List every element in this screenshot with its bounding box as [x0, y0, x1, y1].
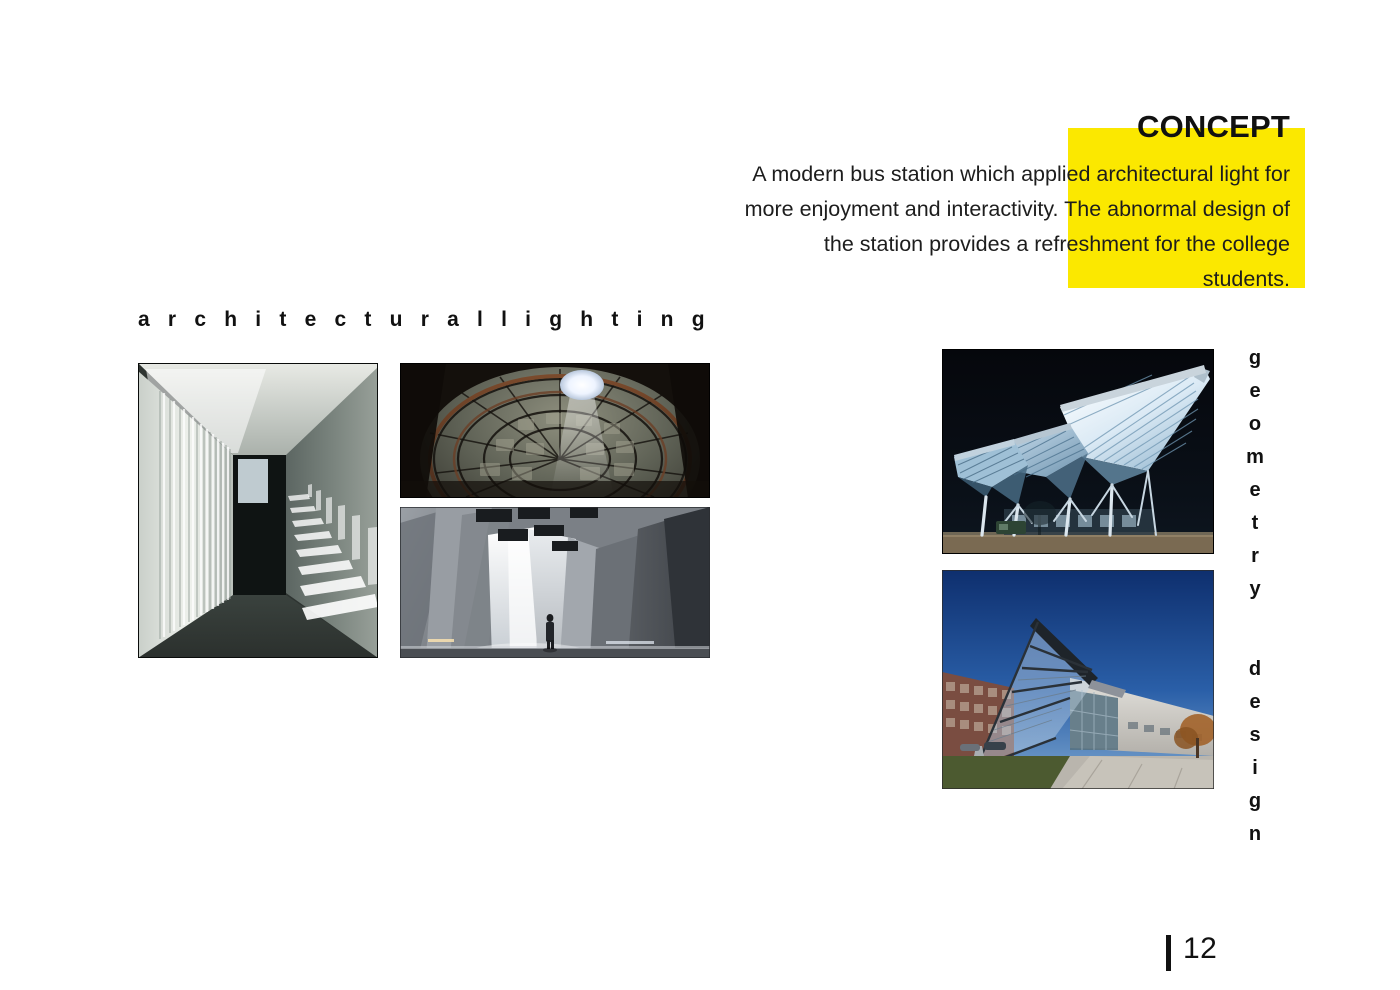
- angular-hall-illustration: [400, 507, 710, 658]
- page-number: 12: [1183, 932, 1217, 966]
- section-label-geometry: geometry: [1238, 342, 1272, 606]
- vert-letter: e: [1238, 474, 1272, 507]
- vert-letter: r: [1238, 540, 1272, 573]
- vert-letter: d: [1238, 653, 1272, 686]
- image-illuminated-canopy: [942, 349, 1214, 554]
- image-concrete-corridor: [138, 363, 378, 658]
- vert-letter: o: [1238, 408, 1272, 441]
- concept-title: CONCEPT: [880, 111, 1290, 142]
- vert-letter: n: [1238, 818, 1272, 851]
- vert-letter: e: [1238, 375, 1272, 408]
- vert-letter: t: [1238, 507, 1272, 540]
- section-label-architectural-lighting: a r c h i t e c t u r a l l i g h t i n …: [138, 308, 711, 332]
- image-angular-glass-facade: [942, 570, 1214, 789]
- image-faceted-concrete-hall: [400, 507, 710, 658]
- page-number-rule: [1166, 935, 1171, 971]
- corridor-illustration: [138, 363, 378, 658]
- concept-description: A modern bus station which applied archi…: [740, 157, 1290, 297]
- image-pantheon-dome: [400, 363, 710, 498]
- presentation-board: CONCEPT A modern bus station which appli…: [0, 0, 1400, 990]
- vert-letter: g: [1238, 785, 1272, 818]
- glass-facade-illustration: [942, 570, 1214, 789]
- vert-letter: y: [1238, 573, 1272, 606]
- vert-letter: g: [1238, 342, 1272, 375]
- vert-letter: e: [1238, 686, 1272, 719]
- vert-letter: m: [1238, 441, 1272, 474]
- vert-letter: i: [1238, 752, 1272, 785]
- dome-illustration: [400, 363, 710, 498]
- section-label-design: design: [1238, 653, 1272, 851]
- vert-letter: s: [1238, 719, 1272, 752]
- canopy-illustration: [942, 349, 1214, 554]
